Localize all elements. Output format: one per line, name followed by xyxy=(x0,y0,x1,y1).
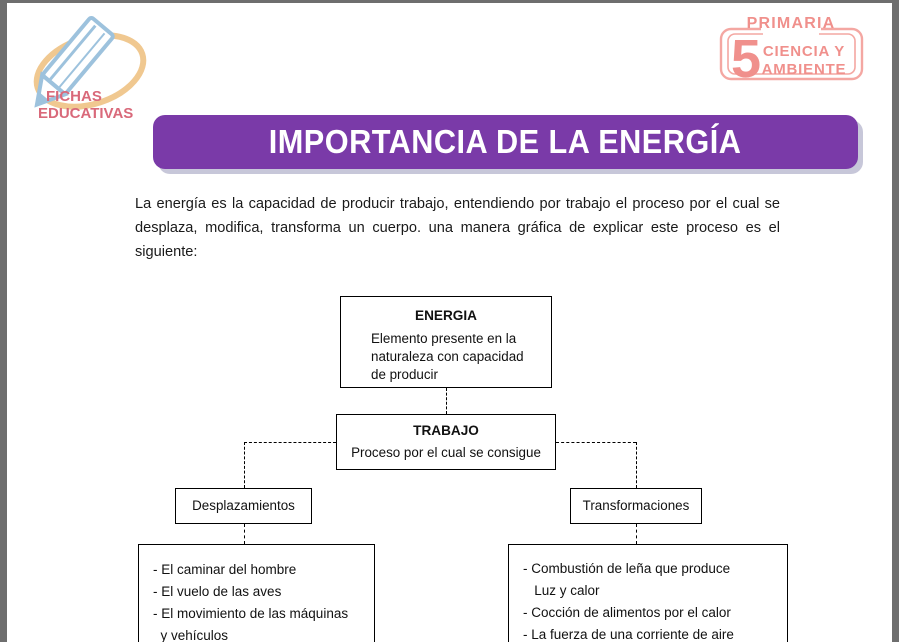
node-trabajo-title: TRABAJO xyxy=(343,422,549,440)
list-item: - El vuelo de las aves xyxy=(153,581,364,603)
worksheet-page: FICHAS EDUCATIVAS PRIMARIA 5 CIENCIA Y A… xyxy=(0,0,899,642)
node-energia: ENERGIA Elemento presente en la naturale… xyxy=(340,296,552,388)
list-item: y vehículos xyxy=(153,625,364,642)
energy-flow-diagram: ENERGIA Elemento presente en la naturale… xyxy=(7,3,892,642)
node-transformaciones: Transformaciones xyxy=(570,488,702,524)
connector-trans-list xyxy=(636,524,637,544)
node-transformaciones-label: Transformaciones xyxy=(583,497,690,515)
connector-right-down xyxy=(636,442,637,488)
list-item: - La fuerza de una corriente de aire xyxy=(523,624,777,642)
connector-energia-trabajo xyxy=(446,388,447,414)
node-desplazamientos-label: Desplazamientos xyxy=(192,497,295,515)
node-trabajo-body: Proceso por el cual se consigue xyxy=(343,444,549,462)
list-item: - El movimiento de las máquinas xyxy=(153,603,364,625)
connector-left-down xyxy=(244,442,245,488)
node-energia-body: Elemento presente en la naturaleza con c… xyxy=(371,330,541,384)
node-desplazamientos: Desplazamientos xyxy=(175,488,312,524)
list-desplazamientos: - El caminar del hombre - El vuelo de la… xyxy=(138,544,375,642)
node-energia-title: ENERGIA xyxy=(351,307,541,325)
list-item: - Cocción de alimentos por el calor xyxy=(523,602,777,624)
connector-trabajo-left xyxy=(244,442,336,443)
connector-trabajo-right xyxy=(556,442,636,443)
connector-desp-list xyxy=(244,524,245,544)
list-item: - El caminar del hombre xyxy=(153,559,364,581)
list-item: - Combustión de leña que produce xyxy=(523,558,777,580)
list-item: Luz y calor xyxy=(523,580,777,602)
node-trabajo: TRABAJO Proceso por el cual se consigue xyxy=(336,414,556,470)
list-transformaciones: - Combustión de leña que produce Luz y c… xyxy=(508,544,788,642)
